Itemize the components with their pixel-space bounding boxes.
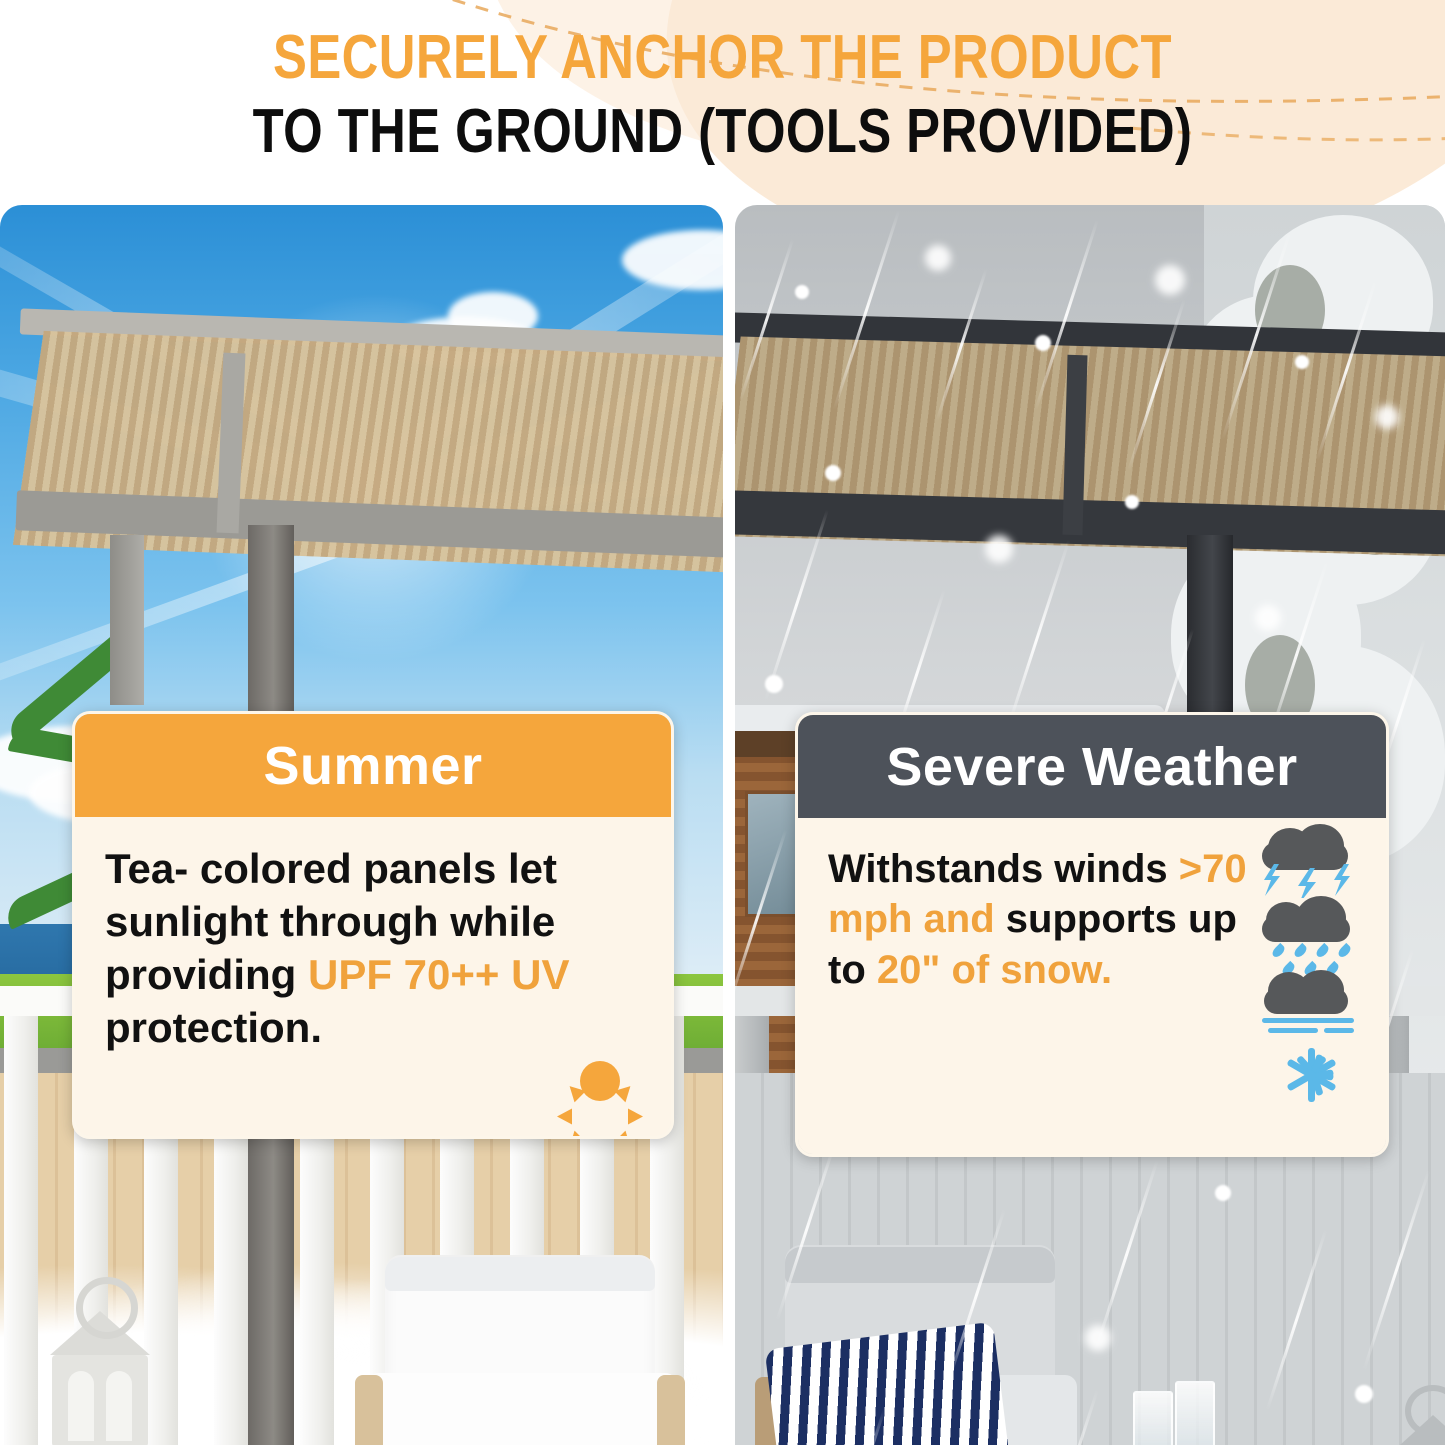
- rain-cloud-icon: [1252, 896, 1372, 966]
- wind-cloud-icon: [1252, 968, 1372, 1038]
- summer-text-highlight: UPF 70++ UV: [308, 951, 569, 998]
- summer-card-title: Summer: [263, 735, 482, 797]
- severe-card-body: Withstands winds >70 mph and supports up…: [798, 818, 1386, 1154]
- lightning-bolts: [1252, 864, 1372, 898]
- drinking-glass: [1133, 1391, 1173, 1445]
- summer-card: Summer Tea- colored panels let sunlight …: [72, 711, 674, 1139]
- severe-card-header: Severe Weather: [798, 715, 1386, 818]
- header-banner: SECURELY ANCHOR THE PRODUCT TO THE GROUN…: [0, 0, 1445, 205]
- severe-text-part-1: Withstands winds: [828, 847, 1179, 891]
- lounge-chair: [355, 1255, 685, 1445]
- snowflake-icon: [1252, 1040, 1372, 1110]
- lantern: [30, 1275, 170, 1445]
- severe-card-text: Withstands winds >70 mph and supports up…: [828, 844, 1258, 995]
- pergola-post-left: [110, 535, 144, 705]
- lantern-winter: [1375, 1385, 1445, 1445]
- sun-disc: [580, 1061, 620, 1101]
- severe-weather-card: Severe Weather Withstands winds >70 mph …: [795, 712, 1389, 1157]
- summer-card-header: Summer: [75, 714, 671, 817]
- severe-text-highlight-2: 20" of snow.: [877, 948, 1112, 992]
- summer-card-body: Tea- colored panels let sunlight through…: [75, 817, 671, 1136]
- sun-icon: [557, 1038, 643, 1124]
- summer-text-part-3: protection.: [105, 1004, 322, 1051]
- thunderstorm-icon: [1252, 824, 1372, 894]
- summer-card-text: Tea- colored panels let sunlight through…: [105, 843, 643, 1055]
- severe-card-title: Severe Weather: [886, 736, 1297, 798]
- weather-icon-stack: [1252, 824, 1372, 1112]
- header-line-1: SECURELY ANCHOR THE PRODUCT: [130, 22, 1315, 93]
- header-line-2: TO THE GROUND (TOOLS PROVIDED): [130, 96, 1315, 167]
- marketing-infographic: SECURELY ANCHOR THE PRODUCT TO THE GROUN…: [0, 0, 1445, 1445]
- drinking-glass: [1175, 1381, 1215, 1445]
